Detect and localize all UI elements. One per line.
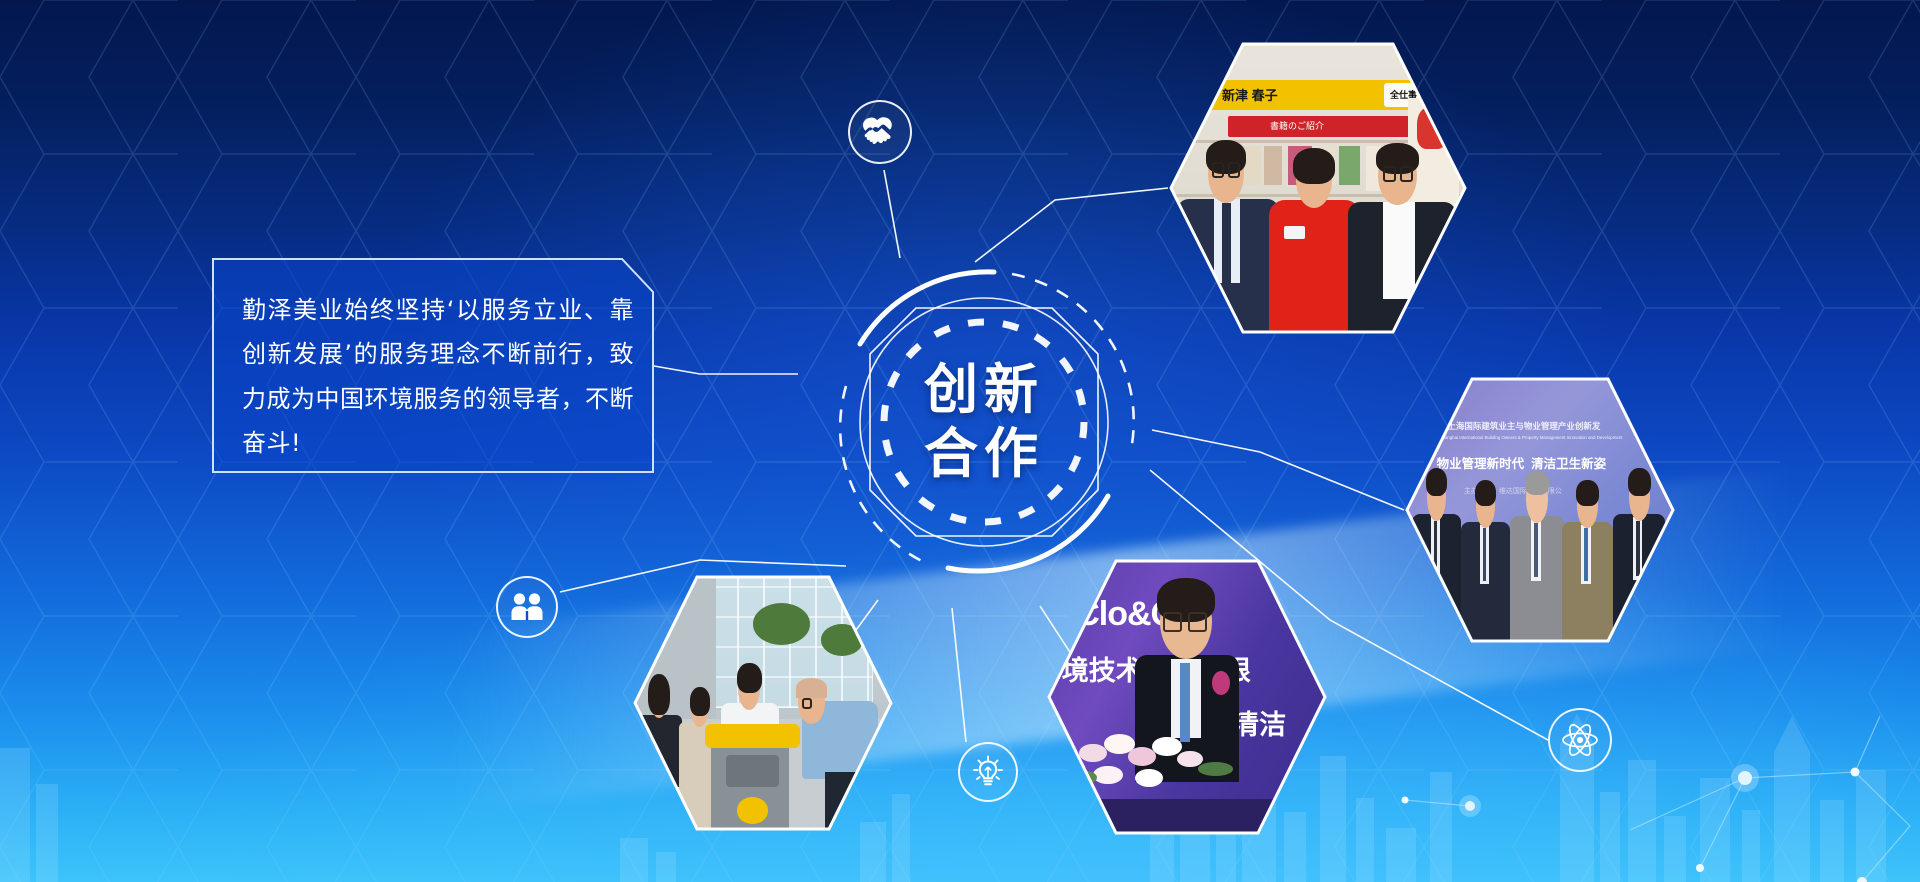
- banner-stage: 勤泽美业始终坚持‘以服务立业、靠创新发展’的服务理念不断前行，致力成为中国环境服…: [0, 0, 1920, 882]
- atom-icon: [1561, 721, 1599, 759]
- center-hub: 创新 合作: [798, 236, 1170, 608]
- two-people-icon: [510, 592, 544, 622]
- lightbulb-icon: [971, 755, 1005, 789]
- badge-people[interactable]: [496, 576, 558, 638]
- badge-atom[interactable]: [1548, 708, 1612, 772]
- hub-title: 创新 合作: [798, 236, 1170, 608]
- mission-statement-card: 勤泽美业始终坚持‘以服务立业、靠创新发展’的服务理念不断前行，致力成为中国环境服…: [212, 258, 654, 473]
- handshake-heart-icon: [861, 115, 899, 149]
- badge-idea[interactable]: [958, 742, 1018, 802]
- mission-statement-text: 勤泽美业始终坚持‘以服务立业、靠创新发展’的服务理念不断前行，致力成为中国环境服…: [242, 288, 634, 466]
- hub-title-line1: 创新: [924, 361, 1044, 419]
- badge-handshake[interactable]: [848, 100, 912, 164]
- hub-title-line2: 合作: [924, 425, 1044, 483]
